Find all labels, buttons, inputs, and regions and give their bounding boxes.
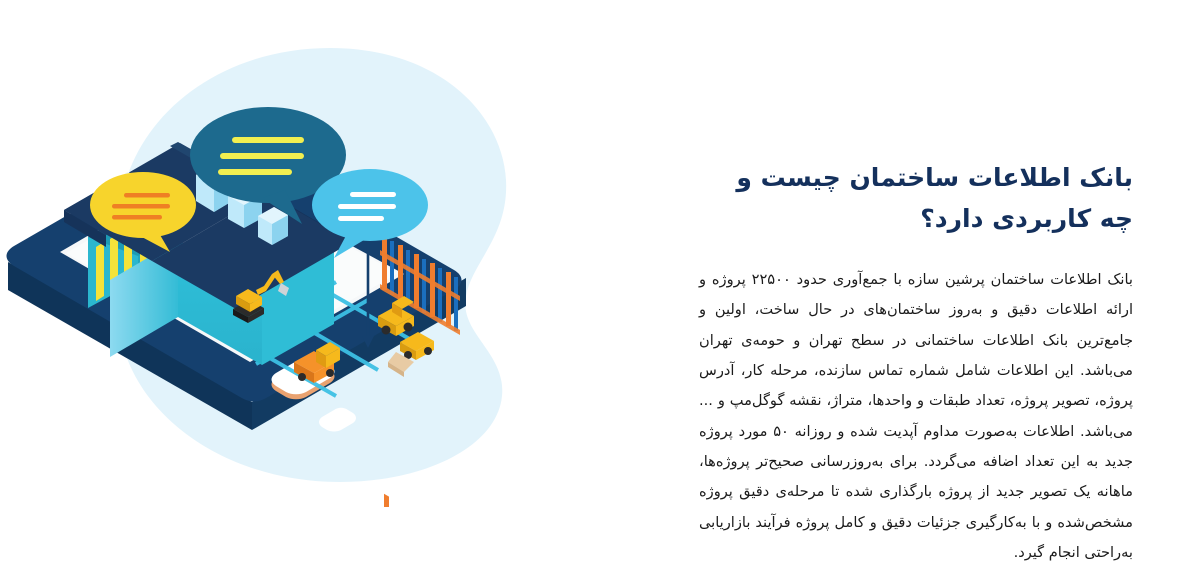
page-root: بانک اطلاعات ساختمان چیست و چه کاربردی د… (0, 0, 1200, 507)
page-title: بانک اطلاعات ساختمان چیست و چه کاربردی د… (699, 158, 1133, 239)
hero-illustration (0, 0, 660, 507)
article-body: بانک اطلاعات ساختمان پرشین سازه با جمع‌آ… (699, 239, 1133, 568)
article-text-column: بانک اطلاعات ساختمان چیست و چه کاربردی د… (699, 0, 1133, 507)
